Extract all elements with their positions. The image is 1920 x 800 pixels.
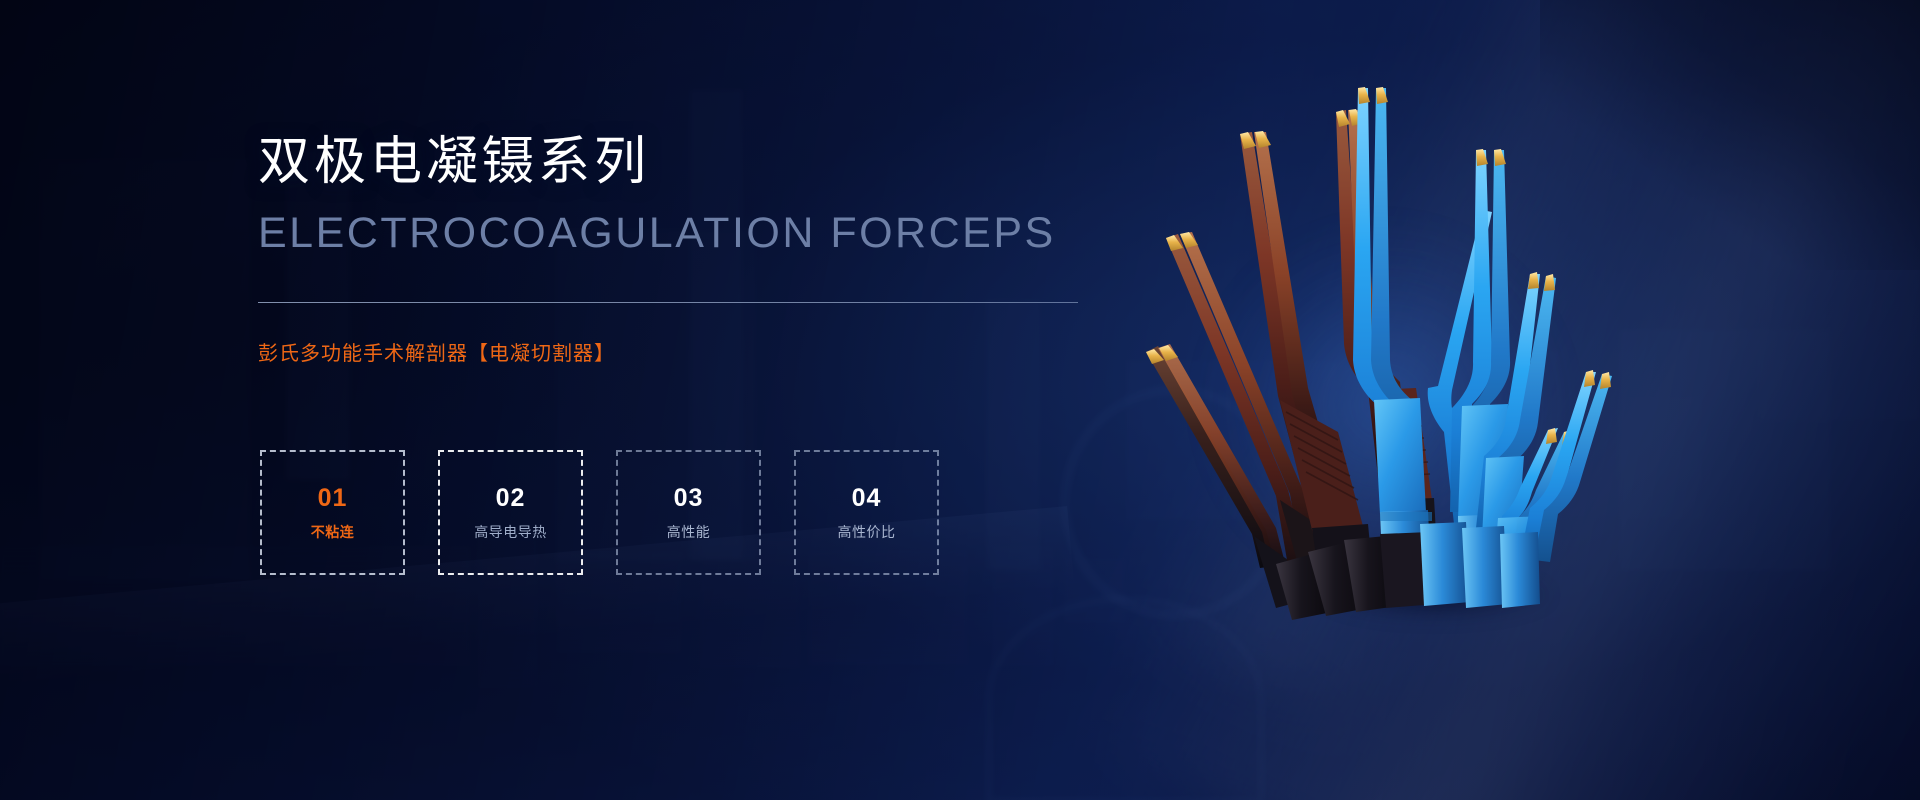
feature-number: 03	[674, 486, 704, 511]
feature-card-03[interactable]: 03 高性能	[616, 450, 761, 575]
feature-label: 不粘连	[311, 525, 355, 539]
product-description: 彭氏多功能手术解剖器【电凝切割器】	[258, 337, 615, 366]
feature-label: 高性能	[667, 525, 711, 539]
title-divider	[258, 302, 1078, 303]
feature-list: 01 不粘连 02 高导电导热 03 高性能 04 高性价比	[260, 450, 939, 575]
forceps-product-image	[1080, 60, 1640, 620]
feature-card-01[interactable]: 01 不粘连	[260, 450, 405, 575]
page-title: 双极电凝镊系列	[258, 136, 650, 188]
feature-label: 高导电导热	[474, 525, 547, 539]
banner-text-content: 双极电凝镊系列 ELECTROCOAGULATION FORCEPS 彭氏多功能…	[258, 0, 1158, 800]
feature-number: 04	[852, 486, 882, 511]
product-banner: 双极电凝镊系列 ELECTROCOAGULATION FORCEPS 彭氏多功能…	[0, 0, 1920, 800]
feature-card-02[interactable]: 02 高导电导热	[438, 450, 583, 575]
page-subtitle-english: ELECTROCOAGULATION FORCEPS	[258, 212, 1056, 255]
feature-number: 01	[318, 486, 348, 511]
feature-number: 02	[496, 486, 526, 511]
feature-label: 高性价比	[838, 525, 896, 539]
feature-card-04[interactable]: 04 高性价比	[794, 450, 939, 575]
